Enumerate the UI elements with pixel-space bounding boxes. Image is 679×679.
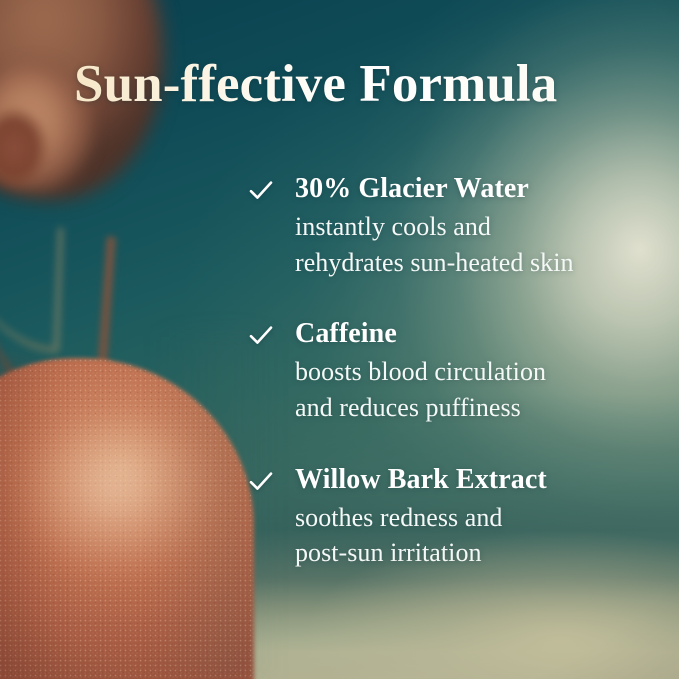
benefit-description: instantly cools and rehydrates sun-heate… [295, 209, 668, 280]
benefit-heading: Caffeine [295, 317, 668, 350]
check-icon [248, 178, 274, 204]
page-title: Sun-ffective Formula [74, 56, 557, 113]
benefit-description: boosts blood circulation and reduces puf… [295, 354, 668, 425]
benefit-description-line: and reduces puffiness [295, 390, 668, 426]
benefit-description-line: rehydrates sun-heated skin [295, 245, 668, 281]
list-item: Willow Bark Extract soothes redness and … [248, 463, 668, 571]
check-icon [248, 469, 274, 495]
benefits-list: 30% Glacier Water instantly cools and re… [248, 172, 668, 571]
benefit-heading: 30% Glacier Water [295, 172, 668, 205]
check-icon [248, 323, 274, 349]
list-item: 30% Glacier Water instantly cools and re… [248, 172, 668, 280]
product-benefits-banner: Sun-ffective Formula 30% Glacier Water i… [0, 0, 679, 679]
benefit-description-line: boosts blood circulation [295, 354, 668, 390]
benefit-description-line: soothes redness and [295, 500, 668, 536]
list-item-body: Willow Bark Extract soothes redness and … [295, 463, 668, 571]
benefit-description-line: instantly cools and [295, 209, 668, 245]
list-item-body: 30% Glacier Water instantly cools and re… [295, 172, 668, 280]
list-item: Caffeine boosts blood circulation and re… [248, 317, 668, 425]
list-item-body: Caffeine boosts blood circulation and re… [295, 317, 668, 425]
benefit-description-line: post-sun irritation [295, 535, 668, 571]
benefit-heading: Willow Bark Extract [295, 463, 668, 496]
benefit-description: soothes redness and post-sun irritation [295, 500, 668, 571]
